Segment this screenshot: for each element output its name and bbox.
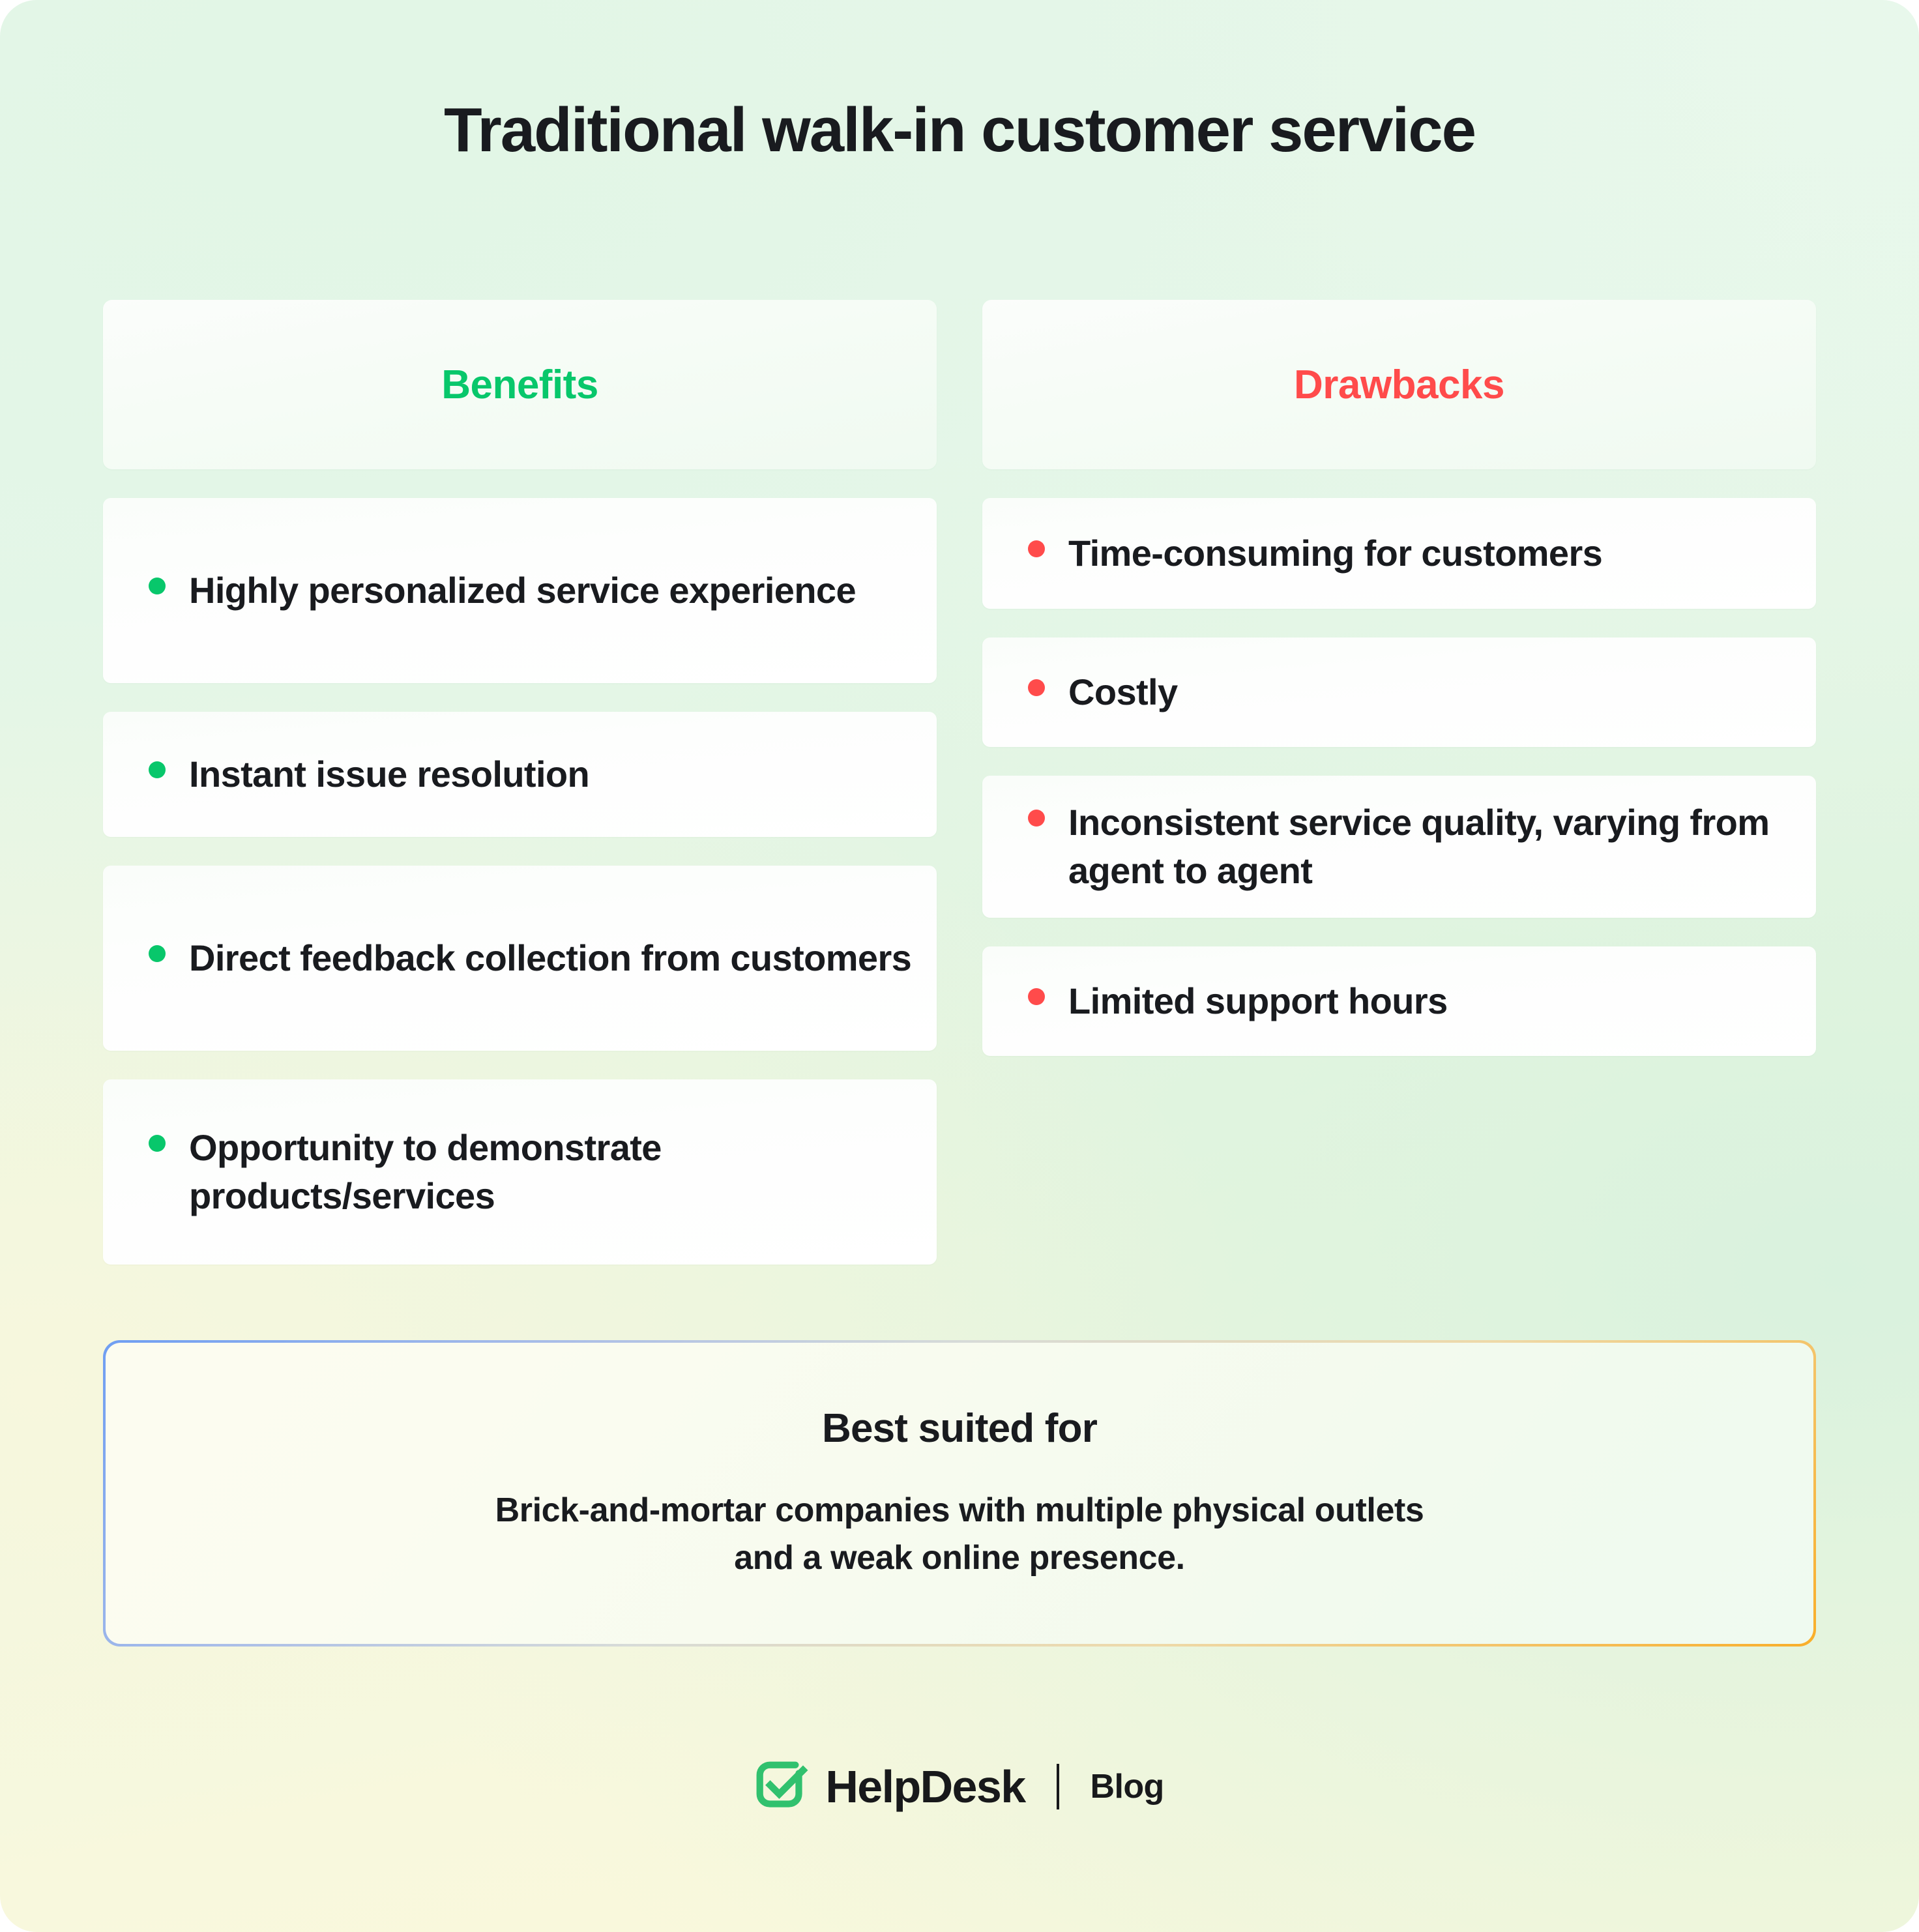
- benefit-item-3-text: Direct feedback collection from customer…: [189, 934, 911, 982]
- bullet-dot-icon: [1028, 988, 1045, 1005]
- footer-divider: [1057, 1764, 1059, 1809]
- benefit-item-2-text: Instant issue resolution: [189, 750, 589, 798]
- bullet-dot-icon: [149, 761, 166, 778]
- drawbacks-header-label: Drawbacks: [1294, 362, 1504, 408]
- drawbacks-column: Drawbacks Time-consuming for customers C…: [982, 300, 1816, 1265]
- drawback-item-4-text: Limited support hours: [1068, 977, 1448, 1025]
- drawback-item-3: Inconsistent service quality, varying fr…: [982, 776, 1816, 918]
- benefit-item-2: Instant issue resolution: [103, 712, 937, 837]
- best-suited-for-body: Brick-and-mortar companies with multiple…: [495, 1487, 1424, 1582]
- best-suited-for-card: Best suited for Brick-and-mortar compani…: [106, 1343, 1813, 1644]
- drawback-item-4: Limited support hours: [982, 946, 1816, 1056]
- bullet-dot-icon: [1028, 810, 1045, 827]
- benefit-item-1: Highly personalized service experience: [103, 498, 937, 683]
- bullet-dot-icon: [1028, 679, 1045, 696]
- drawback-item-2: Costly: [982, 637, 1816, 747]
- drawback-item-3-text: Inconsistent service quality, varying fr…: [1068, 798, 1816, 896]
- helpdesk-logo-icon: [755, 1760, 808, 1813]
- benefit-item-4-text: Opportunity to demonstrate products/serv…: [189, 1124, 937, 1221]
- footer: HelpDesk Blog: [0, 1760, 1919, 1813]
- footer-section-label: Blog: [1091, 1767, 1164, 1806]
- benefits-column: Benefits Highly personalized service exp…: [103, 300, 937, 1265]
- drawbacks-header-card: Drawbacks: [982, 300, 1816, 469]
- benefits-header-label: Benefits: [441, 362, 598, 408]
- best-suited-for-line-1: Brick-and-mortar companies with multiple…: [495, 1487, 1424, 1534]
- page-title: Traditional walk-in customer service: [0, 96, 1919, 164]
- best-suited-for-line-2: and a weak online presence.: [495, 1534, 1424, 1582]
- best-suited-for-panel: Best suited for Brick-and-mortar compani…: [103, 1340, 1816, 1647]
- best-suited-for-title: Best suited for: [822, 1405, 1097, 1452]
- benefit-item-3: Direct feedback collection from customer…: [103, 866, 937, 1051]
- comparison-columns: Benefits Highly personalized service exp…: [103, 300, 1816, 1265]
- drawback-item-1: Time-consuming for customers: [982, 498, 1816, 609]
- brand-name: HelpDesk: [825, 1761, 1025, 1813]
- drawback-item-2-text: Costly: [1068, 668, 1178, 716]
- benefit-item-4: Opportunity to demonstrate products/serv…: [103, 1079, 937, 1265]
- benefit-item-1-text: Highly personalized service experience: [189, 566, 856, 615]
- bullet-dot-icon: [149, 945, 166, 962]
- bullet-dot-icon: [149, 1135, 166, 1152]
- benefits-header-card: Benefits: [103, 300, 937, 469]
- bullet-dot-icon: [149, 578, 166, 594]
- bullet-dot-icon: [1028, 540, 1045, 557]
- drawback-item-1-text: Time-consuming for customers: [1068, 529, 1602, 578]
- infographic-root: Traditional walk-in customer service Ben…: [0, 0, 1919, 1932]
